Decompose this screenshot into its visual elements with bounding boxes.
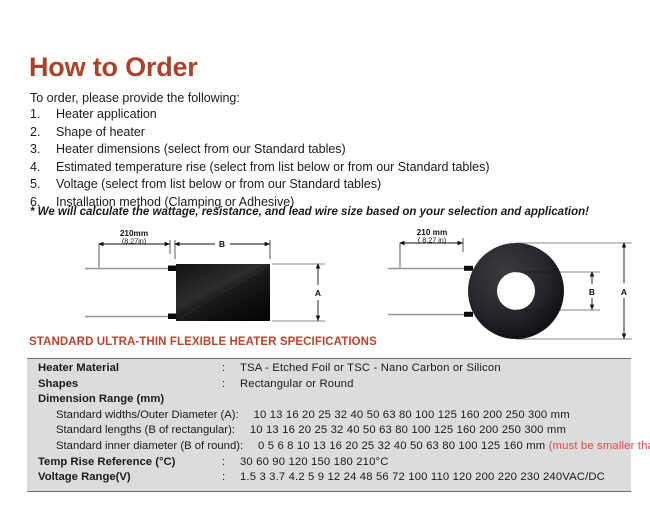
list-item: 1. Heater application: [30, 107, 620, 125]
page-title: How to Order: [29, 52, 198, 83]
list-item-label: Heater dimensions (select from our Stand…: [56, 142, 620, 156]
table-row: Standard widths/Outer Diameter (A) : 10 …: [27, 409, 631, 425]
lead-crimp: [464, 266, 473, 271]
row-label: Voltage Range(V): [27, 471, 222, 483]
dim-b-label: B: [589, 287, 595, 297]
lead-length-inch-label: (8.27in): [122, 237, 146, 246]
list-item-label: Heater application: [56, 107, 620, 121]
row-value: 1.5 3 3.7 4.2 5 9 12 24 48 56 72 100 110…: [240, 471, 631, 483]
spec-table: Heater Material : TSA - Etched Foil or T…: [27, 358, 631, 492]
list-item-label: Shape of heater: [56, 125, 620, 139]
heater-diagrams: 210mm (8.27in) B A 210 mm ( 8.27 in): [0, 226, 650, 344]
row-label: Shapes: [27, 378, 222, 390]
row-colon: :: [222, 378, 240, 390]
table-row: Temp Rise Reference (°C) : 30 60 90 120 …: [27, 456, 631, 472]
row-colon: :: [240, 440, 258, 452]
list-item-number: 5.: [30, 177, 56, 191]
row-label: Standard widths/Outer Diameter (A): [27, 409, 236, 421]
spec-section-title: STANDARD ULTRA-THIN FLEXIBLE HEATER SPEC…: [29, 336, 377, 348]
row-colon: :: [232, 424, 250, 436]
diagram-svg: 210mm (8.27in) B A 210 mm ( 8.27 in): [0, 226, 650, 344]
lead-crimp: [168, 314, 177, 320]
dim-a-label: A: [315, 288, 321, 298]
list-item-label: Voltage (select from list below or from …: [56, 177, 620, 191]
row-label: Standard inner diameter (B of round): [27, 440, 240, 452]
list-item: 4. Estimated temperature rise (select fr…: [30, 160, 620, 178]
row-value: 30 60 90 120 150 180 210°C: [240, 456, 631, 468]
list-item: 3. Heater dimensions (select from our St…: [30, 142, 620, 160]
round-heater-hole: [497, 272, 535, 310]
row-colon: :: [236, 409, 254, 421]
table-row: Standard inner diameter (B of round) : 0…: [27, 440, 631, 456]
table-row: Standard lengths (B of rectangular) : 10…: [27, 424, 631, 440]
lead-crimp: [168, 266, 177, 272]
order-steps-list: 1. Heater application 2. Shape of heater…: [30, 107, 620, 212]
rectangular-heater-diagram: 210mm (8.27in) B A: [85, 229, 326, 321]
row-colon: :: [222, 362, 240, 374]
list-item-number: 1.: [30, 107, 56, 121]
lead-crimp: [464, 312, 473, 317]
table-row: Dimension Range (mm): [27, 393, 631, 409]
row-value: 10 13 16 20 25 32 40 50 63 80 100 125 16…: [250, 424, 631, 436]
row-label: Heater Material: [27, 362, 222, 374]
table-row: Heater Material : TSA - Etched Foil or T…: [27, 362, 631, 378]
row-value-note: (must be smaller than A): [549, 440, 650, 452]
table-row: Voltage Range(V) : 1.5 3 3.7 4.2 5 9 12 …: [27, 471, 631, 487]
dim-b-label: B: [219, 239, 225, 249]
row-value: TSA - Etched Foil or TSC - Nano Carbon o…: [240, 362, 631, 374]
list-item-number: 4.: [30, 160, 56, 174]
table-row: Shapes : Rectangular or Round: [27, 378, 631, 394]
row-label: Temp Rise Reference (°C): [27, 456, 222, 468]
row-label: Dimension Range (mm): [27, 393, 222, 405]
intro-text: To order, please provide the following:: [30, 91, 240, 105]
list-item: 2. Shape of heater: [30, 125, 620, 143]
row-colon: :: [222, 456, 240, 468]
footnote-text: * We will calculate the wattage, resista…: [30, 206, 589, 218]
list-item-number: 2.: [30, 125, 56, 139]
lead-length-inch-label: ( 8.27 in): [418, 236, 446, 245]
row-value: 0 5 6 8 10 13 16 20 25 32 40 50 63 80 10…: [258, 440, 650, 452]
row-label: Standard lengths (B of rectangular): [27, 424, 232, 436]
row-value: Rectangular or Round: [240, 378, 631, 390]
list-item-label: Estimated temperature rise (select from …: [56, 160, 620, 174]
round-heater-diagram: 210 mm ( 8.27 in) B A: [388, 228, 632, 339]
dim-a-label: A: [621, 287, 627, 297]
row-value: 10 13 16 20 25 32 40 50 63 80 100 125 16…: [254, 409, 631, 421]
list-item: 5. Voltage (select from list below or fr…: [30, 177, 620, 195]
row-colon: :: [222, 471, 240, 483]
list-item-number: 3.: [30, 142, 56, 156]
